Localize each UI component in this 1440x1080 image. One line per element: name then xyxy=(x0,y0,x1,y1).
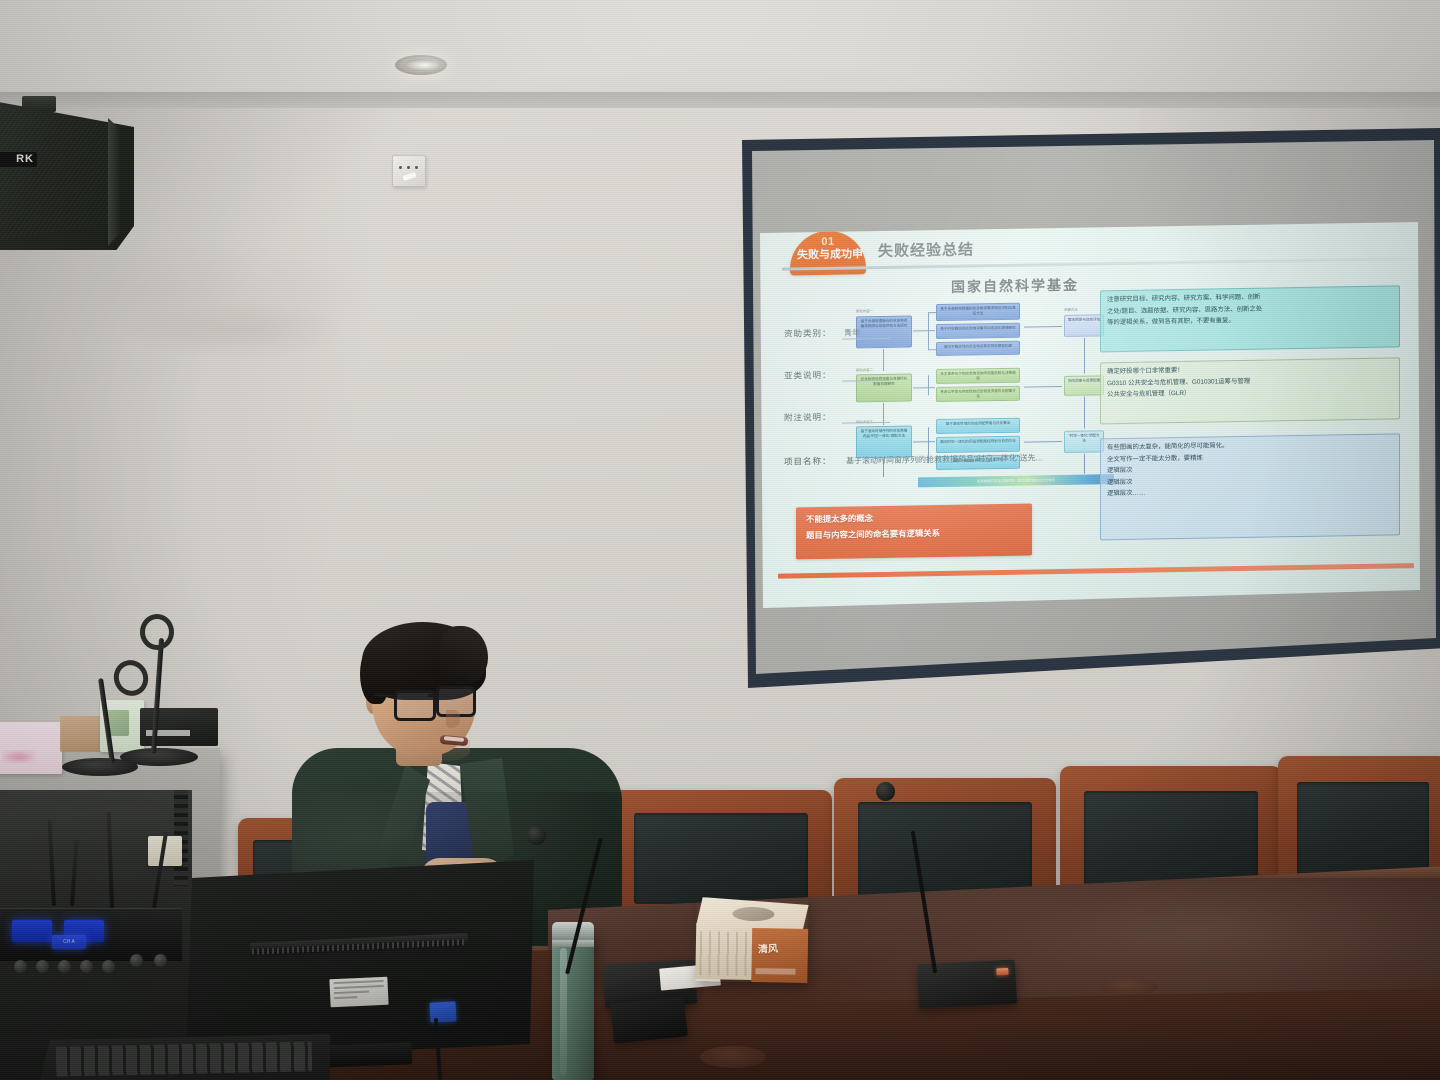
flow-right-box-1-3: 面向不确定性的应急物资需求预测模型构建 xyxy=(936,341,1020,356)
flow-right-box-2-2: 考虑公平性与时效性的应急物资资源优化配置方法 xyxy=(936,386,1020,402)
flow-far-box-1: 需求预测与动态评估 xyxy=(1064,314,1104,337)
flow-left-box-2: 应急物资协同调度与资源优化配置机理研究 xyxy=(856,373,912,402)
speaker-grille xyxy=(0,104,116,242)
mic-indicator-led-right xyxy=(996,968,1008,976)
flow-far-box-2: 协同调度与资源配置 xyxy=(1064,375,1104,396)
flow-right-box-1-1: 基于多源异构数据的应急物资需求特征识别与表征方法 xyxy=(936,303,1020,321)
form-label-1: 亚类说明： xyxy=(784,369,832,382)
slide-badge-label: 失败与成功申 xyxy=(790,248,870,261)
flow-left-box-1: 基于多源数据融合的应急物资需求预测与动态评估方法研究 xyxy=(856,315,912,348)
mic-stand-base-2 xyxy=(62,758,138,776)
person-nose xyxy=(446,710,460,728)
flow-left-tag-2: 研究内容二 xyxy=(856,367,873,372)
slide-badge-number: 01 xyxy=(790,235,866,248)
form-value-0: 青年 xyxy=(844,327,860,338)
remote-control[interactable] xyxy=(610,996,688,1044)
mic-clip-1 xyxy=(140,614,174,650)
callout-line-1: 不能提太多的概念 xyxy=(806,511,1022,526)
table-grommet-left xyxy=(700,1046,766,1068)
monitor-rear xyxy=(186,860,534,1060)
slide-title: 失败经验总结 xyxy=(878,238,974,261)
callout-line-2: 题目与内容之间的命名要有逻辑关系 xyxy=(806,527,1022,542)
monitor-stand xyxy=(316,1042,413,1067)
flow-bottom-bar: 应急救援药品全过程时空一体化调配理论与方法体系 xyxy=(918,474,1114,487)
flow-right-box-2-1: 多主体参与下的应急物资协同调度机制与决策模型 xyxy=(936,368,1020,384)
gooseneck-mic-head-left xyxy=(527,826,546,845)
keyboard-keys[interactable] xyxy=(56,1041,313,1076)
conference-room-photo: RK 01 失败与成功申 失败经验总结 国家自然科学基金 基于多源数据融合的应急… xyxy=(0,0,1440,1080)
slide-note-cyan: 注意研究目标、研究内容、研究方案、科学问题、创新 之处/题目、选题依据、研究内容… xyxy=(1100,285,1400,352)
receiver-lcd-3: CH A xyxy=(52,935,86,949)
table-grommet-right xyxy=(1100,978,1158,996)
flow-far-box-3: "时空一体化"调配方法 xyxy=(1064,430,1104,453)
monitor-spec-label xyxy=(329,977,388,1008)
flow-left-box-3: 基于滚动时域序列的应急救援药品"时空一体化"调配方法 xyxy=(856,425,912,458)
flow-right-box-1-2: 基于时空耦合的应急物资需求动态演化规律研究 xyxy=(936,323,1020,339)
form-label-2: 附注说明： xyxy=(784,411,832,424)
slide-note-green: 确定好投哪个口非常重要！ G0310 公共安全与危机管理、G010301运筹与管… xyxy=(1100,357,1400,424)
form-label-3: 项目名称： xyxy=(784,455,832,468)
gooseneck-mic-head-right xyxy=(876,782,895,801)
cardboard-carton xyxy=(60,716,104,752)
pink-carton xyxy=(0,722,62,774)
wall-blemish-2 xyxy=(120,300,350,360)
rack-knob-row[interactable] xyxy=(8,960,168,978)
flow-far-tag-1: 关键方法 xyxy=(1064,307,1078,312)
slide-bottom-accent-bar xyxy=(778,563,1414,579)
tissue-box: 清风 xyxy=(695,897,808,983)
form-label-0: 资助类别： xyxy=(784,327,832,340)
flow-right-box-3-1: 基于滚动时域的动态调配策略与优化算法 xyxy=(936,418,1020,434)
speaker-side-panel xyxy=(108,118,122,246)
slide-note-blue: 有些图画的太复杂，能简化的尽可能简化。 全文写作一定不能太分散，要精炼 逻辑层次… xyxy=(1100,433,1400,540)
person-hair-top xyxy=(440,626,488,684)
flow-left-tag-1: 研究内容一 xyxy=(856,308,873,313)
tissue-brand-label: 清风 xyxy=(757,940,778,956)
speaker-brand-label: RK xyxy=(0,152,37,167)
slide-callout: 不能提太多的概念 题目与内容之间的命名要有逻辑关系 xyxy=(796,503,1032,559)
projected-slide: 01 失败与成功申 失败经验总结 国家自然科学基金 基于多源数据融合的应急物资需… xyxy=(760,222,1420,608)
receiver-lcd-1 xyxy=(12,920,52,942)
flow-right-box-3-2: 面向时空一体化的药品调配路径规划与协同方法 xyxy=(936,436,1020,453)
downlight-inner xyxy=(404,59,438,71)
wall-socket-plate[interactable] xyxy=(392,155,426,187)
